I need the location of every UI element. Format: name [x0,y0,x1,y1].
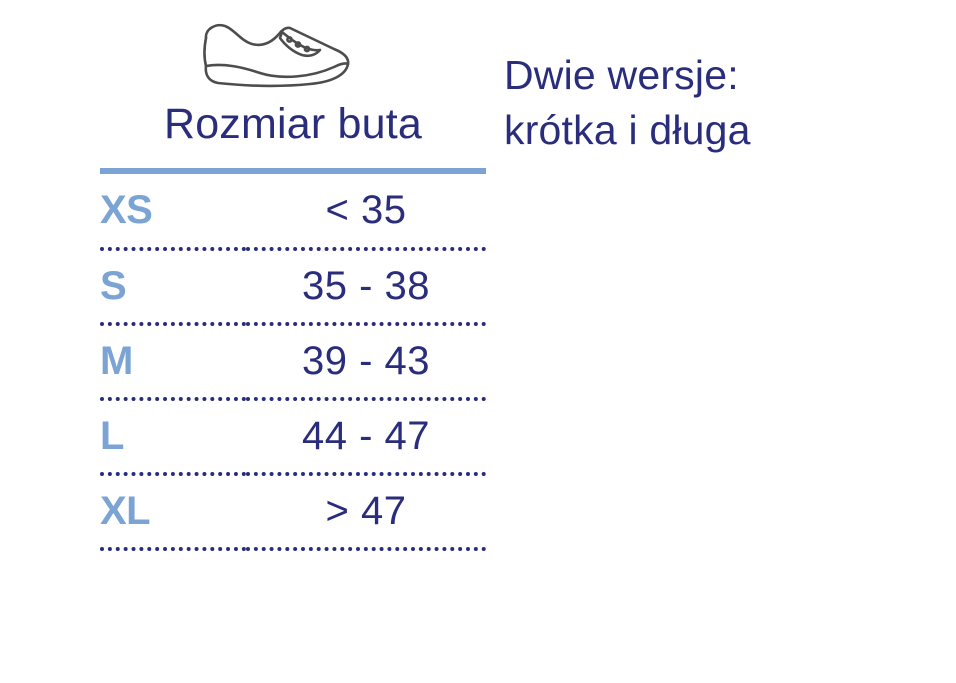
page-title: Rozmiar buta [100,96,486,152]
shoe-range-value: < 35 [246,174,486,249]
table-row: XS < 35 [100,174,486,249]
shoe-range-value: > 47 [246,474,486,549]
versions-note-line-1: Dwie wersje: [504,48,904,103]
table-row: L 44 - 47 [100,399,486,474]
size-panel: Rozmiar buta XS < 35 S 35 - 38 M 39 - 43… [100,96,486,551]
size-label: XS [100,174,246,249]
versions-note: Dwie wersje: krótka i długa [504,48,904,158]
size-label: M [100,324,246,399]
shoe-range-value: 44 - 47 [246,399,486,474]
table-row: M 39 - 43 [100,324,486,399]
table-row: S 35 - 38 [100,249,486,324]
sneaker-icon [194,14,354,94]
size-table: XS < 35 S 35 - 38 M 39 - 43 L 44 - 47 XL [100,174,486,551]
table-row: XL > 47 [100,474,486,549]
size-chart-page: Rozmiar buta XS < 35 S 35 - 38 M 39 - 43… [0,0,956,683]
shoe-range-value: 39 - 43 [246,324,486,399]
size-label: L [100,399,246,474]
size-label: XL [100,474,246,549]
versions-note-line-2: krótka i długa [504,103,904,158]
size-label: S [100,249,246,324]
shoe-range-value: 35 - 38 [246,249,486,324]
